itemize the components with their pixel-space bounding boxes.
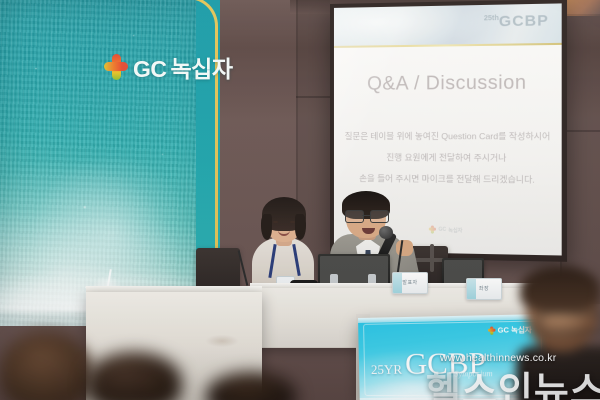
gc-cross-logo-icon: [488, 326, 496, 334]
audience-head-foreground: [0, 332, 92, 400]
gc-cross-logo-icon: [104, 54, 128, 80]
photo-scene: GC녹십자 25thGCBP Q&A / Discussion 질문은 테이블 …: [0, 0, 600, 400]
slide-body-line: 손을 들어 주시면 마이크를 전달해 드리겠습니다.: [342, 168, 553, 191]
gc-brand-logo: GC녹십자: [104, 50, 232, 84]
slide-brandmark-text: GCBP: [499, 12, 549, 30]
microphone-head-icon: [379, 226, 393, 239]
nameplate-right-text: 좌장: [467, 285, 501, 292]
watermark-korean: 헬스인뉴스: [426, 360, 600, 400]
eyeglasses-icon: [345, 210, 389, 221]
slide-footer-logo-korean: 녹십자: [448, 226, 462, 233]
slide-brandmark: 25thGCBP: [484, 12, 549, 31]
slide-title: Q&A / Discussion: [334, 72, 562, 96]
podium-logo-latin: GC: [498, 327, 509, 334]
woman-eye: [273, 221, 278, 223]
nameplate-left-text: 발표자: [393, 279, 427, 286]
slide-brandmark-prefix: 25th: [484, 15, 499, 22]
wall-panel: [562, 14, 600, 304]
audience-hair: [520, 266, 600, 312]
watermark-korean-dim: 헬: [426, 371, 462, 400]
gc-logo-latin: GC: [133, 56, 167, 82]
woman-eye: [290, 221, 295, 223]
gc-logo-korean: 녹십자: [171, 56, 233, 82]
gc-logo-text: GC녹십자: [133, 50, 232, 84]
chair-armrest: [430, 244, 434, 272]
slide-body-line: 질문은 테이블 위에 놓여진 Question Card를 작성하시어: [342, 126, 553, 148]
event-backdrop: [0, 0, 218, 326]
slide-footer-logo-latin: GC: [438, 227, 446, 233]
slide-body: 질문은 테이블 위에 놓여진 Question Card를 작성하시어 진행 요…: [342, 126, 553, 191]
watermark-korean-bright: 스인뉴스: [462, 371, 600, 400]
table-smudge: [198, 332, 246, 350]
nameplate-left: 발표자: [392, 272, 428, 294]
nameplate-right: 좌장: [466, 278, 502, 300]
gc-cross-logo-icon: [429, 225, 436, 233]
podium-year-label: 25YR: [371, 362, 402, 377]
woman-hair: [261, 214, 272, 240]
slide-body-line: 진행 요원에게 전달하여 주시거나: [342, 147, 553, 169]
eyeglasses-icon: [538, 312, 600, 334]
